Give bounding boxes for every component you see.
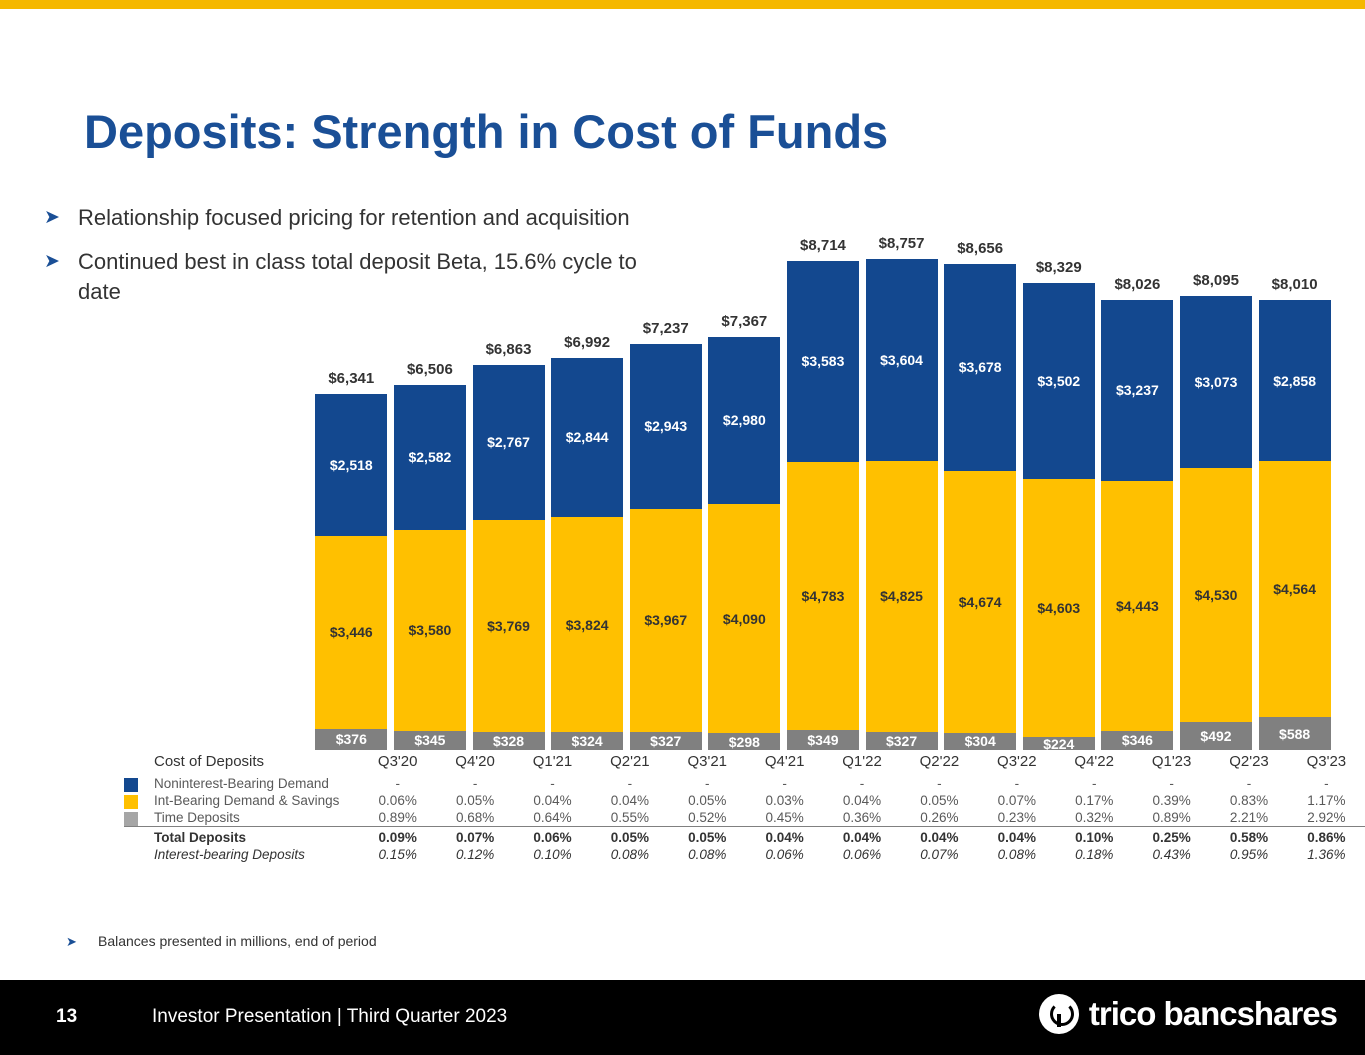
bar-segment-label: $2,518 [330, 457, 373, 473]
bar-segment-label: $2,582 [408, 449, 451, 465]
table-row: Int-Bearing Demand & Savings0.06%0.05%0.… [124, 792, 1365, 809]
bar-segment-label: $3,967 [644, 612, 687, 628]
row-label: Time Deposits [124, 809, 359, 827]
bar-total-label: $6,506 [394, 361, 466, 378]
table-cell: - [978, 775, 1055, 792]
bar-segment-gold: $3,446 [315, 536, 387, 729]
bar-segment-label: $4,603 [1037, 600, 1080, 616]
bar-segment-gray: $345 [394, 731, 466, 750]
stacked-bar-chart: $6,341$2,518$3,446$376$6,506$2,582$3,580… [312, 200, 1334, 750]
table-cell: Q4'22 [1056, 752, 1133, 775]
table-cell: 0.86% [1288, 827, 1365, 847]
table-cell: 0.04% [591, 792, 668, 809]
bar-segment-blue: $3,502 [1023, 283, 1095, 480]
table-cell: 0.03% [746, 792, 823, 809]
table-cell: 0.95% [1210, 846, 1287, 863]
bar-segment-label: $3,824 [566, 617, 609, 633]
trico-mark-icon [1039, 994, 1079, 1034]
bar-stack: $6,863$2,767$3,769$328 [473, 365, 545, 750]
bar-segment-gray: $349 [787, 730, 859, 750]
table-cell: 0.05% [901, 792, 978, 809]
table-row: Total Deposits0.09%0.07%0.06%0.05%0.05%0… [124, 827, 1365, 847]
row-label: Cost of Deposits [124, 752, 359, 775]
table-cell: Q3'23 [1288, 752, 1365, 775]
top-accent-bar [0, 0, 1365, 9]
table-cell: - [359, 775, 436, 792]
table-cell: - [1133, 775, 1210, 792]
table-cell: Q2'22 [901, 752, 978, 775]
bar-segment-label: $4,825 [880, 588, 923, 604]
row-label: Noninterest-Bearing Demand [124, 775, 359, 792]
table-cell: 0.06% [746, 846, 823, 863]
bar-segment-label: $4,674 [959, 594, 1002, 610]
bar-segment-gray: $492 [1180, 722, 1252, 750]
bar-total-label: $8,656 [944, 240, 1016, 257]
table-cell: Q3'22 [978, 752, 1055, 775]
bar-segment-gray: $327 [866, 732, 938, 750]
bar-segment-label: $304 [965, 733, 996, 749]
bar-segment-gray: $376 [315, 729, 387, 750]
bar-segment-gray: $298 [708, 733, 780, 750]
table-cell: 0.39% [1133, 792, 1210, 809]
bar-column: $7,237$2,943$3,967$327 [626, 200, 705, 750]
table-cell: - [591, 775, 668, 792]
table-cell: 0.18% [1056, 846, 1133, 863]
bar-segment-gray: $346 [1101, 731, 1173, 750]
bar-segment-label: $4,530 [1195, 587, 1238, 603]
bar-column: $8,095$3,073$4,530$492 [1177, 200, 1256, 750]
legend-swatch-gold [124, 795, 138, 809]
table-cell: - [746, 775, 823, 792]
bar-stack: $6,506$2,582$3,580$345 [394, 385, 466, 750]
bar-stack: $6,341$2,518$3,446$376 [315, 394, 387, 750]
bar-column: $8,714$3,583$4,783$349 [784, 200, 863, 750]
bar-total-label: $7,237 [630, 320, 702, 337]
bar-total-label: $7,367 [708, 313, 780, 330]
bar-segment-label: $3,583 [802, 353, 845, 369]
table-cell: Q2'23 [1210, 752, 1287, 775]
table-cell: 0.04% [978, 827, 1055, 847]
bar-stack: $8,329$3,502$4,603$224 [1023, 283, 1095, 750]
bar-stack: $8,095$3,073$4,530$492 [1180, 296, 1252, 750]
table-cell: 0.68% [436, 809, 513, 827]
table-cell: 0.04% [901, 827, 978, 847]
bar-segment-gold: $3,824 [551, 517, 623, 732]
chart-bars: $6,341$2,518$3,446$376$6,506$2,582$3,580… [312, 200, 1334, 750]
bar-column: $8,757$3,604$4,825$327 [862, 200, 941, 750]
bar-stack: $8,714$3,583$4,783$349 [787, 261, 859, 750]
bar-segment-gold: $4,825 [866, 461, 938, 732]
table-cell: Q3'20 [359, 752, 436, 775]
table-cell: 2.92% [1288, 809, 1365, 827]
table-cell: 0.05% [669, 792, 746, 809]
bar-column: $6,506$2,582$3,580$345 [391, 200, 470, 750]
table-cell: 0.55% [591, 809, 668, 827]
bar-stack: $6,992$2,844$3,824$324 [551, 358, 623, 750]
bar-segment-gray: $327 [630, 732, 702, 750]
row-label: Int-Bearing Demand & Savings [124, 792, 359, 809]
bar-stack: $8,656$3,678$4,674$304 [944, 264, 1016, 750]
table-cell: 0.06% [359, 792, 436, 809]
bar-segment-gold: $4,603 [1023, 479, 1095, 737]
table-cell: Q1'21 [514, 752, 591, 775]
bar-segment-blue: $3,583 [787, 261, 859, 462]
bar-segment-label: $345 [414, 732, 445, 748]
x-axis-row: Cost of DepositsQ3'20Q4'20Q1'21Q2'21Q3'2… [124, 752, 1365, 775]
bar-segment-label: $4,564 [1273, 581, 1316, 597]
table-cell: 0.07% [436, 827, 513, 847]
cost-of-deposits-table: Cost of DepositsQ3'20Q4'20Q1'21Q2'21Q3'2… [124, 752, 1334, 863]
table-cell: - [901, 775, 978, 792]
bar-segment-gold: $4,443 [1101, 481, 1173, 730]
bar-column: $7,367$2,980$4,090$298 [705, 200, 784, 750]
table-cell: - [514, 775, 591, 792]
table-cell: 0.10% [1056, 827, 1133, 847]
table-cell: 0.08% [978, 846, 1055, 863]
table-cell: 0.10% [514, 846, 591, 863]
table-cell: 0.45% [746, 809, 823, 827]
table-cell: - [669, 775, 746, 792]
table-cell: 0.32% [1056, 809, 1133, 827]
bar-segment-label: $2,844 [566, 429, 609, 445]
table-row: Noninterest-Bearing Demand------------- [124, 775, 1365, 792]
table-cell: - [823, 775, 900, 792]
bar-segment-gold: $4,783 [787, 462, 859, 730]
bar-segment-label: $492 [1200, 728, 1231, 744]
bar-total-label: $8,095 [1180, 272, 1252, 289]
bar-segment-label: $4,443 [1116, 598, 1159, 614]
bar-total-label: $6,992 [551, 334, 623, 351]
bar-segment-label: $327 [650, 733, 681, 749]
bar-segment-gray: $304 [944, 733, 1016, 750]
bar-segment-label: $3,237 [1116, 382, 1159, 398]
table-cell: 2.21% [1210, 809, 1287, 827]
bar-segment-label: $224 [1043, 736, 1074, 752]
bar-segment-gold: $3,967 [630, 509, 702, 732]
bar-total-label: $6,341 [315, 370, 387, 387]
table-cell: 0.89% [359, 809, 436, 827]
bar-segment-blue: $2,582 [394, 385, 466, 530]
bar-segment-blue: $3,073 [1180, 296, 1252, 468]
table-cell: 0.23% [978, 809, 1055, 827]
brand-name: trico bancshares [1089, 995, 1337, 1033]
brand-logo: trico bancshares [1039, 994, 1337, 1034]
table-cell: 0.83% [1210, 792, 1287, 809]
bar-segment-label: $3,446 [330, 624, 373, 640]
table-cell: 0.04% [514, 792, 591, 809]
bar-column: $8,026$3,237$4,443$346 [1098, 200, 1177, 750]
table-cell: 0.36% [823, 809, 900, 827]
row-label: Interest-bearing Deposits [124, 846, 359, 863]
legend-swatch-gray [124, 812, 138, 826]
table-cell: 1.36% [1288, 846, 1365, 863]
bar-column: $8,010$2,858$4,564$588 [1255, 200, 1334, 750]
bar-segment-label: $298 [729, 734, 760, 750]
bar-segment-gray: $328 [473, 732, 545, 750]
bar-column: $8,329$3,502$4,603$224 [1019, 200, 1098, 750]
table-cell: 0.04% [823, 827, 900, 847]
bar-total-label: $8,714 [787, 237, 859, 254]
bar-segment-gold: $3,580 [394, 530, 466, 731]
bar-total-label: $8,329 [1023, 259, 1095, 276]
page-number: 13 [56, 1006, 77, 1028]
table-cell: 0.17% [1056, 792, 1133, 809]
table-cell: 0.58% [1210, 827, 1287, 847]
bar-segment-blue: $3,237 [1101, 300, 1173, 482]
table-cell: 0.26% [901, 809, 978, 827]
table-cell: Q2'21 [591, 752, 668, 775]
table-row: Time Deposits0.89%0.68%0.64%0.55%0.52%0.… [124, 809, 1365, 827]
table-cell: 0.05% [669, 827, 746, 847]
bar-segment-blue: $2,943 [630, 344, 702, 509]
bar-segment-blue: $2,767 [473, 365, 545, 520]
bar-segment-gold: $4,530 [1180, 468, 1252, 722]
table-cell: 1.17% [1288, 792, 1365, 809]
bar-segment-gold: $4,090 [708, 504, 780, 734]
table-cell: Q3'21 [669, 752, 746, 775]
page-title: Deposits: Strength in Cost of Funds [84, 104, 888, 159]
bar-segment-gray: $324 [551, 732, 623, 750]
bar-segment-label: $3,769 [487, 618, 530, 634]
table-cell: 0.08% [591, 846, 668, 863]
bar-segment-label: $3,678 [959, 359, 1002, 375]
bar-segment-label: $376 [336, 731, 367, 747]
bar-total-label: $6,863 [473, 341, 545, 358]
bar-segment-label: $588 [1279, 726, 1310, 742]
table-cell: 0.06% [514, 827, 591, 847]
bar-segment-label: $346 [1122, 732, 1153, 748]
bar-segment-gold: $4,564 [1259, 461, 1331, 717]
table-cell: 0.12% [436, 846, 513, 863]
footnote-text: Balances presented in millions, end of p… [98, 932, 377, 951]
bar-segment-label: $349 [807, 732, 838, 748]
bar-stack: $8,026$3,237$4,443$346 [1101, 300, 1173, 750]
bar-segment-gray: $588 [1259, 717, 1331, 750]
bar-stack: $7,367$2,980$4,090$298 [708, 337, 780, 750]
table-cell: - [436, 775, 513, 792]
bar-segment-label: $3,580 [408, 622, 451, 638]
bar-column: $8,656$3,678$4,674$304 [941, 200, 1020, 750]
table-cell: - [1210, 775, 1287, 792]
table-cell: - [1056, 775, 1133, 792]
bar-segment-label: $3,502 [1037, 373, 1080, 389]
table-row: Interest-bearing Deposits0.15%0.12%0.10%… [124, 846, 1365, 863]
table-cell: 0.89% [1133, 809, 1210, 827]
bar-column: $6,341$2,518$3,446$376 [312, 200, 391, 750]
arrow-icon: ➤ [44, 203, 78, 233]
bar-segment-blue: $2,518 [315, 394, 387, 535]
footer-text: Investor Presentation | Third Quarter 20… [152, 1006, 507, 1028]
row-label: Total Deposits [124, 827, 359, 847]
bar-segment-label: $328 [493, 733, 524, 749]
bar-segment-label: $2,767 [487, 434, 530, 450]
table-cell: - [1288, 775, 1365, 792]
bar-column: $6,863$2,767$3,769$328 [469, 200, 548, 750]
table-cell: 0.07% [901, 846, 978, 863]
bar-segment-blue: $3,678 [944, 264, 1016, 470]
bar-segment-label: $324 [572, 733, 603, 749]
bar-segment-label: $2,980 [723, 412, 766, 428]
bar-segment-gray: $224 [1023, 737, 1095, 750]
table-cell: 0.52% [669, 809, 746, 827]
table-cell: Q1'23 [1133, 752, 1210, 775]
bar-segment-label: $4,090 [723, 611, 766, 627]
table-cell: 0.05% [591, 827, 668, 847]
table-cell: 0.43% [1133, 846, 1210, 863]
table-cell: 0.05% [436, 792, 513, 809]
bar-segment-label: $327 [886, 733, 917, 749]
table-cell: 0.25% [1133, 827, 1210, 847]
bar-column: $6,992$2,844$3,824$324 [548, 200, 627, 750]
footnote: ➤ Balances presented in millions, end of… [66, 932, 377, 951]
table-cell: 0.64% [514, 809, 591, 827]
bar-total-label: $8,026 [1101, 276, 1173, 293]
legend-swatch-blue [124, 778, 138, 792]
table-cell: Q1'22 [823, 752, 900, 775]
arrow-icon: ➤ [66, 932, 98, 951]
bar-segment-blue: $2,844 [551, 358, 623, 518]
bar-segment-label: $2,858 [1273, 373, 1316, 389]
bar-segment-label: $4,783 [802, 588, 845, 604]
table-cell: 0.04% [746, 827, 823, 847]
table-cell: 0.09% [359, 827, 436, 847]
table-cell: 0.15% [359, 846, 436, 863]
bar-segment-label: $3,604 [880, 352, 923, 368]
bar-segment-gold: $4,674 [944, 471, 1016, 733]
bar-stack: $8,010$2,858$4,564$588 [1259, 300, 1331, 750]
table-cell: 0.08% [669, 846, 746, 863]
bar-segment-blue: $2,980 [708, 337, 780, 504]
table-cell: 0.07% [978, 792, 1055, 809]
bar-total-label: $8,757 [866, 235, 938, 252]
bar-segment-blue: $3,604 [866, 259, 938, 461]
bar-segment-gold: $3,769 [473, 520, 545, 732]
slide-footer: 13 Investor Presentation | Third Quarter… [0, 980, 1365, 1055]
bar-segment-label: $3,073 [1195, 374, 1238, 390]
table-cell: Q4'21 [746, 752, 823, 775]
table-cell: Q4'20 [436, 752, 513, 775]
bar-stack: $7,237$2,943$3,967$327 [630, 344, 702, 750]
bar-segment-blue: $2,858 [1259, 300, 1331, 460]
arrow-icon: ➤ [44, 247, 78, 277]
table-cell: 0.06% [823, 846, 900, 863]
bar-total-label: $8,010 [1259, 276, 1331, 293]
bar-stack: $8,757$3,604$4,825$327 [866, 259, 938, 750]
bar-segment-label: $2,943 [644, 418, 687, 434]
table-cell: 0.04% [823, 792, 900, 809]
